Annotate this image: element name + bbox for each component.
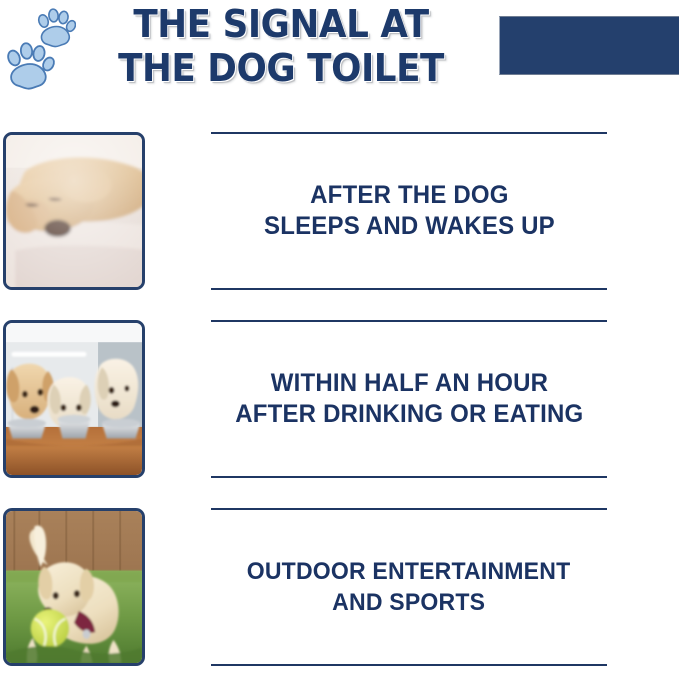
row-label-line-1: AFTER THE DOG [310,180,508,211]
row-label: WITHIN HALF AN HOUR AFTER DRINKING OR EA… [211,322,607,476]
puppies-eating-illustration [6,323,142,475]
list-item: OUTDOOR ENTERTAINMENT AND SPORTS [0,494,679,682]
row-label-line-2: AFTER DRINKING OR EATING [235,399,583,430]
page-title: THE SIGNAL AT THE DOG TOILET [86,2,476,90]
divider-bottom [211,664,607,666]
page-title-line-1: THE SIGNAL AT [98,2,465,46]
page-title-line-2: THE DOG TOILET [98,46,465,90]
header: THE SIGNAL AT THE DOG TOILET [0,0,679,118]
photo-sleeping-dog [3,132,145,290]
list-item: WITHIN HALF AN HOUR AFTER DRINKING OR EA… [0,306,679,494]
row-text-column: WITHIN HALF AN HOUR AFTER DRINKING OR EA… [211,320,607,478]
row-text-column: OUTDOOR ENTERTAINMENT AND SPORTS [211,508,607,666]
puppy-with-ball-illustration [6,511,142,663]
row-label: AFTER THE DOG SLEEPS AND WAKES UP [211,134,607,288]
list-item: AFTER THE DOG SLEEPS AND WAKES UP [0,118,679,306]
divider-bottom [211,476,607,478]
header-navy-band [499,16,679,75]
paw-prints-decoration [0,0,95,100]
row-label: OUTDOOR ENTERTAINMENT AND SPORTS [211,510,607,664]
row-label-line-2: SLEEPS AND WAKES UP [264,211,555,242]
photo-puppy-with-ball [3,508,145,666]
divider-bottom [211,288,607,290]
row-label-line-1: OUTDOOR ENTERTAINMENT [247,556,571,587]
photo-puppies-eating [3,320,145,478]
row-label-line-1: WITHIN HALF AN HOUR [270,368,547,399]
row-text-column: AFTER THE DOG SLEEPS AND WAKES UP [211,132,607,290]
row-label-line-2: AND SPORTS [332,587,485,618]
paw-print-icon-large [5,42,57,99]
sleeping-dog-illustration [6,135,142,287]
signal-list: AFTER THE DOG SLEEPS AND WAKES UP [0,118,679,682]
